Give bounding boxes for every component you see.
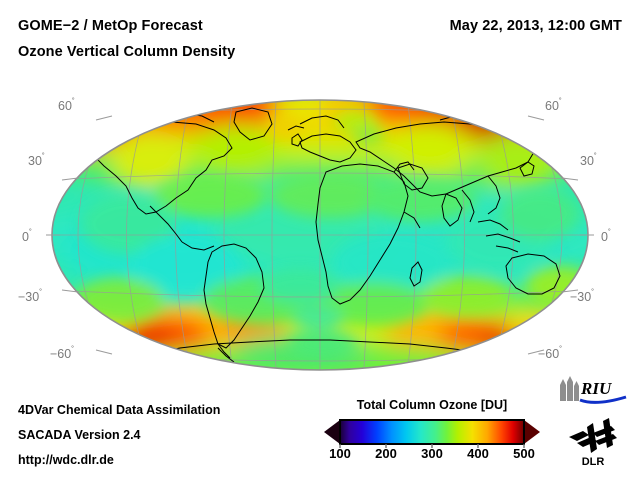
colorbar: Total Column Ozone [DU] — [318, 398, 546, 470]
dlr-logo: DLR — [563, 415, 623, 467]
lat-label-60-right: 60˚ — [545, 97, 562, 113]
lat-label-60-left: 60˚ — [58, 97, 75, 113]
ozone-field — [20, 86, 620, 400]
credit-line-version: SACADA Version 2.4 — [18, 428, 141, 442]
lat-label-30-left: 30˚ — [28, 152, 45, 168]
credit-line-url[interactable]: http://wdc.dlr.de — [18, 453, 114, 467]
colorbar-tick-labels: 100 200 300 400 500 — [318, 446, 546, 466]
colorbar-tick-500: 500 — [513, 446, 535, 461]
riu-logo: RIU — [556, 375, 628, 407]
colorbar-tick-400: 400 — [467, 446, 489, 461]
colorbar-tick-200: 200 — [375, 446, 397, 461]
lat-label-30-right: 30˚ — [580, 152, 597, 168]
ozone-forecast-figure: GOME−2 / MetOp Forecast Ozone Vertical C… — [0, 0, 640, 480]
lat-label-0-right: 0˚ — [601, 228, 611, 244]
lat-label-0-left: 0˚ — [22, 228, 32, 244]
colorbar-tick-100: 100 — [329, 446, 351, 461]
lat-label-minus30-right: −30˚ — [570, 288, 594, 304]
riu-logo-text: RIU — [580, 379, 612, 398]
lat-label-minus30-left: −30˚ — [18, 288, 42, 304]
colorbar-title: Total Column Ozone [DU] — [318, 398, 546, 412]
dlr-logo-text: DLR — [582, 456, 605, 467]
colorbar-tick-300: 300 — [421, 446, 443, 461]
lat-label-minus60-left: −60˚ — [50, 345, 74, 361]
credit-line-method: 4DVar Chemical Data Assimilation — [18, 403, 220, 417]
lat-label-minus60-right: −60˚ — [538, 345, 562, 361]
colorbar-gradient — [318, 418, 546, 448]
